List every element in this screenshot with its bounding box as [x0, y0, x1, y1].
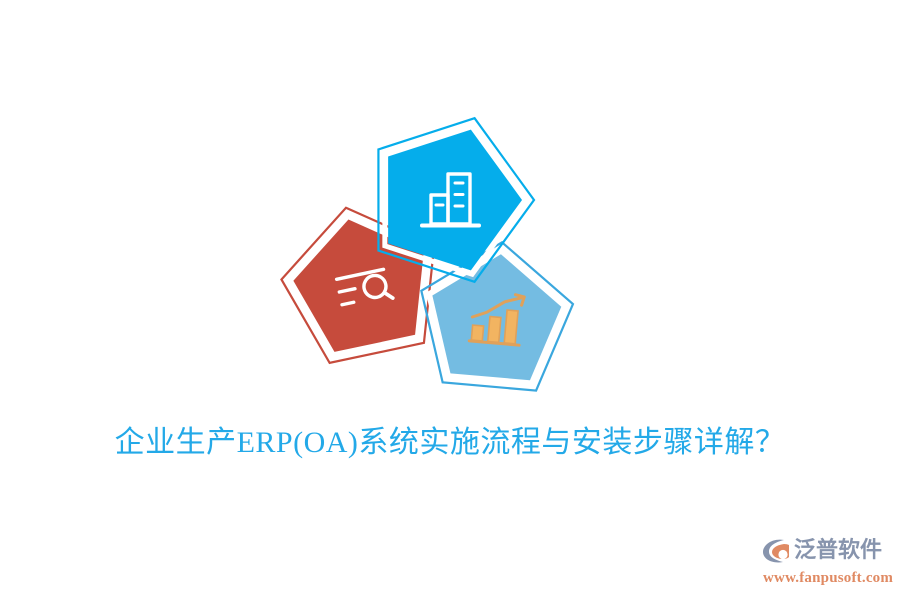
logo-row: 泛普软件	[762, 534, 894, 568]
logo-url: www.fanpusoft.com	[763, 569, 894, 587]
fanpu-c-mark-icon	[762, 537, 792, 565]
watermark-logo: 泛普软件 www.fanpusoft.com	[762, 534, 894, 590]
hero-graphic	[275, 100, 605, 420]
page-canvas: 企业生产ERP(OA)系统实施流程与安装步骤详解？ 泛普软件 www.fanpu…	[0, 0, 900, 600]
page-title: 企业生产ERP(OA)系统实施流程与安装步骤详解？	[0, 424, 900, 462]
logo-wordmark: 泛普软件	[794, 537, 882, 565]
